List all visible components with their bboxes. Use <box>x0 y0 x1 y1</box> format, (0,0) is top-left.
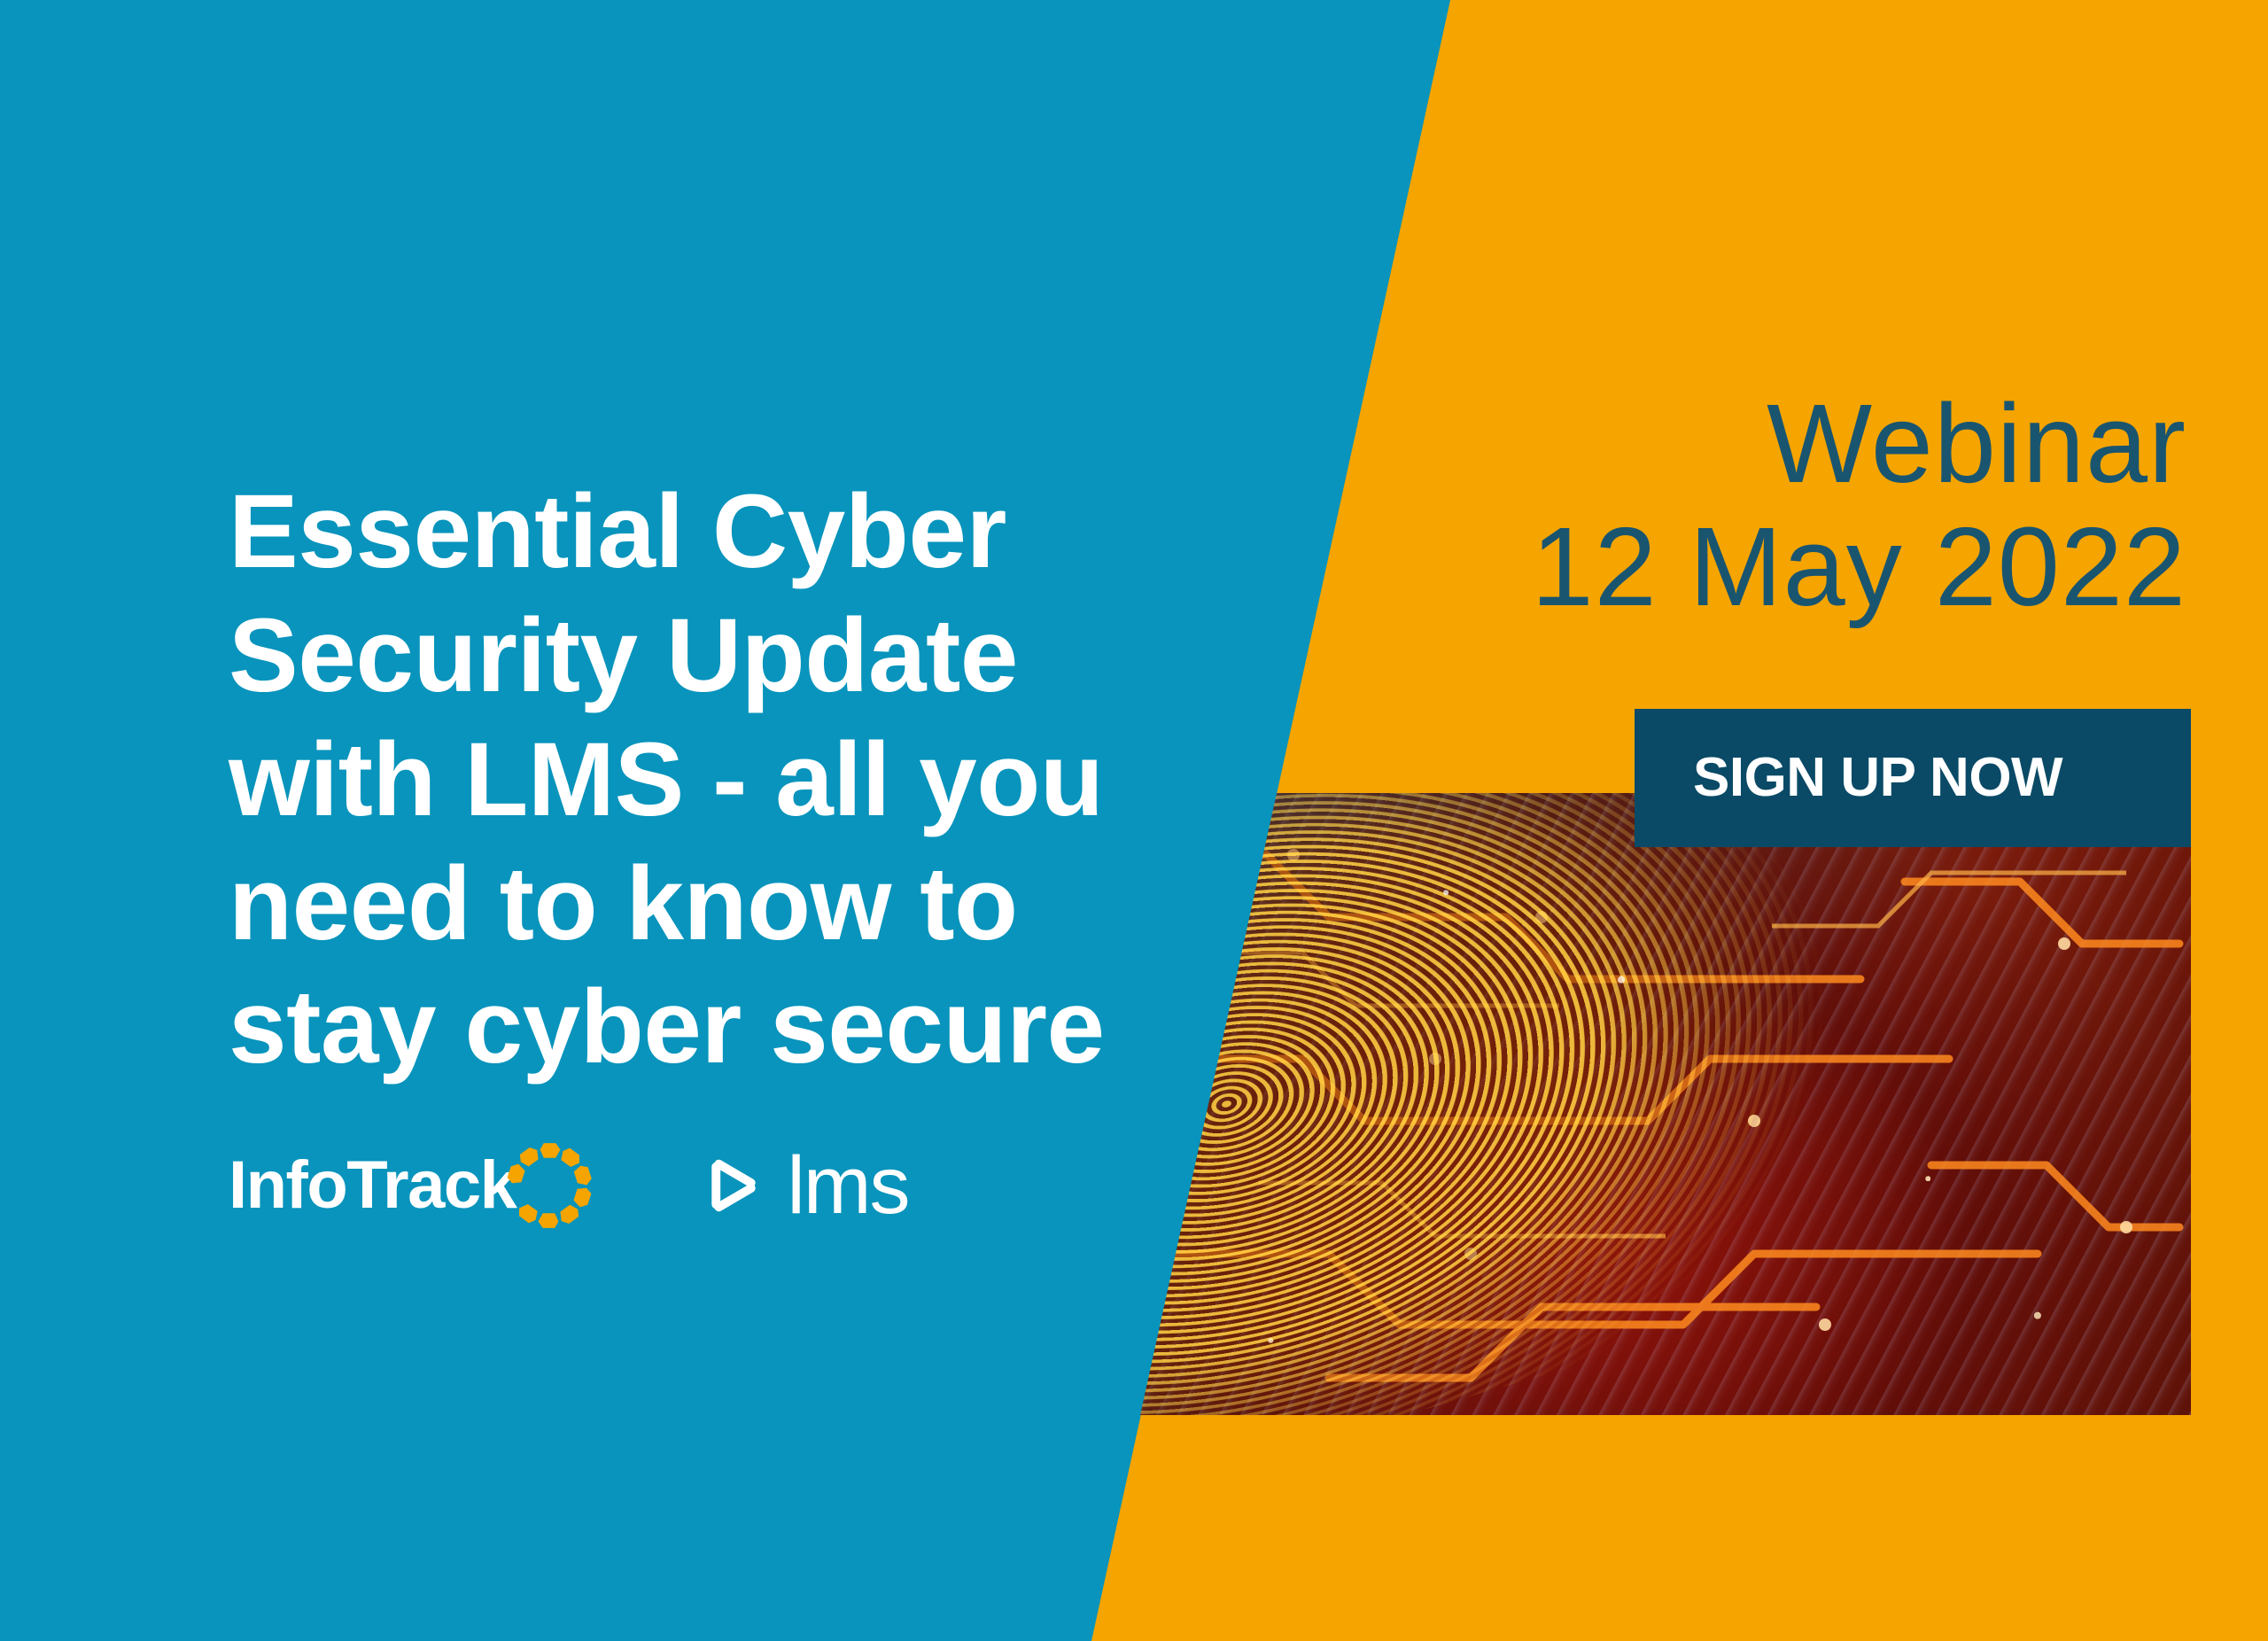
event-type-label: Webinar <box>1301 383 2186 506</box>
lms-wordmark: lms <box>787 1145 908 1226</box>
sign-up-button-label: SIGN UP NOW <box>1693 751 2062 805</box>
page-title: Essential Cyber Security Update with LMS… <box>229 471 1185 1090</box>
orange-dashed-ring-icon <box>503 1139 595 1232</box>
sign-up-button[interactable]: SIGN UP NOW <box>1635 709 2191 847</box>
play-triangle-icon <box>700 1152 767 1219</box>
logo-row: InfoTrack <box>229 1139 908 1232</box>
lms-logo: lms <box>700 1145 908 1226</box>
event-meta: Webinar 12 May 2022 <box>1301 383 2186 628</box>
infotrack-wordmark: InfoTrack <box>229 1152 516 1219</box>
infotrack-logo: InfoTrack <box>229 1139 595 1232</box>
event-date-label: 12 May 2022 <box>1301 506 2186 629</box>
webinar-promo-banner: Essential Cyber Security Update with LMS… <box>0 0 2268 1641</box>
